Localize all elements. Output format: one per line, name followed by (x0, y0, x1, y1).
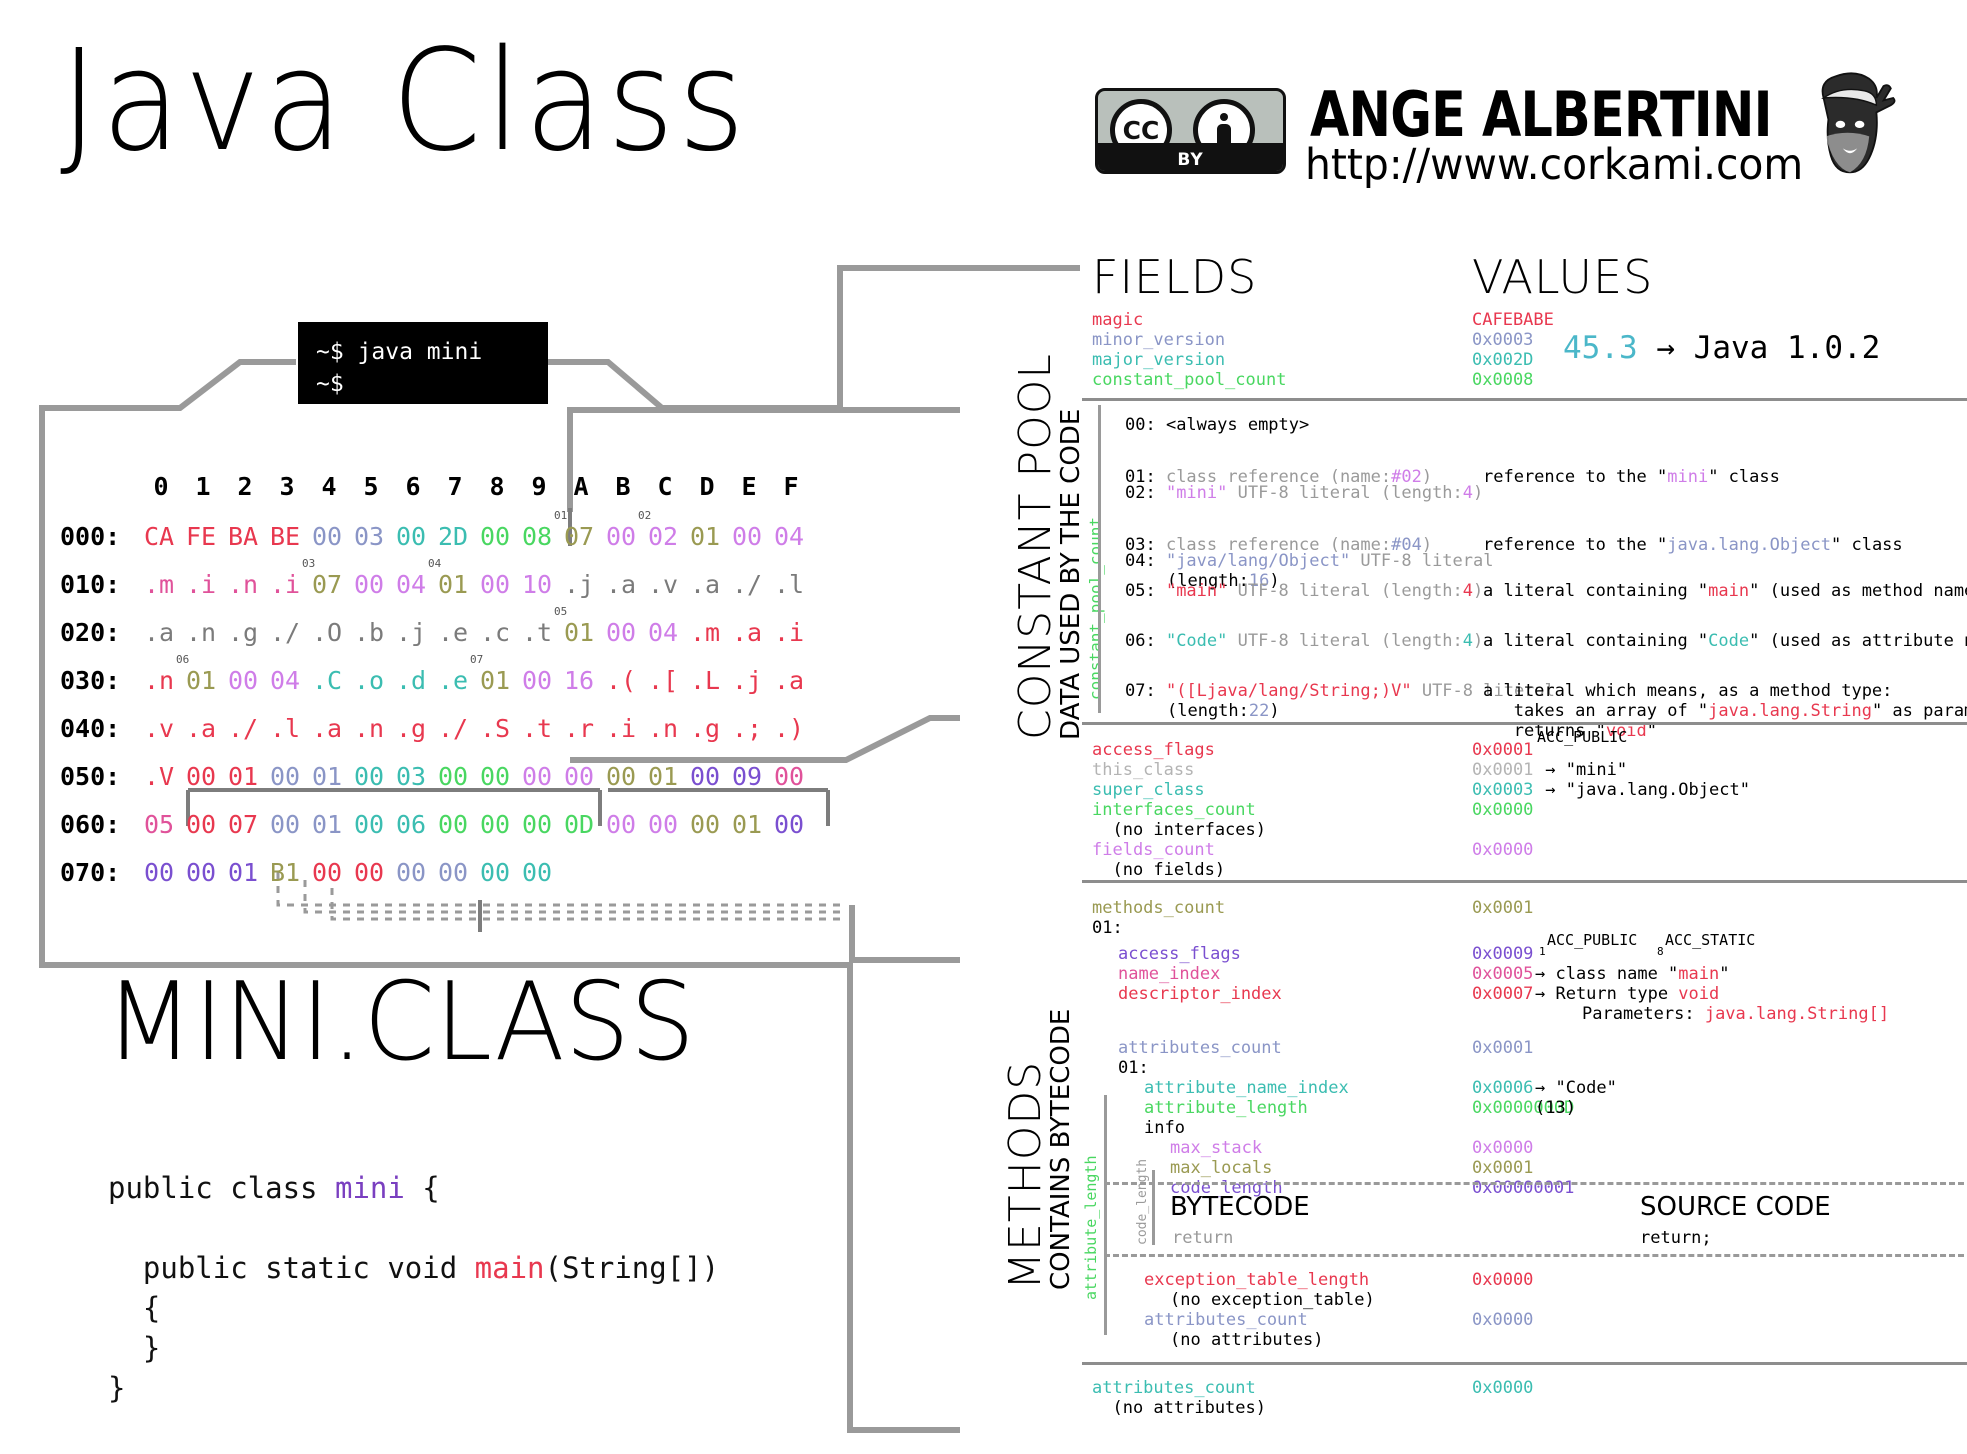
hex-byte: .a (768, 666, 810, 695)
method-annotation: → class name "main" (1535, 964, 1730, 984)
constant-pool-entry: 00: <always empty> (1125, 415, 1309, 435)
hex-byte-index: 01 (554, 509, 567, 522)
hex-byte: 00 (684, 810, 726, 839)
hex-byte: 00 (600, 522, 642, 551)
hex-byte: 00 (726, 522, 768, 551)
hex-byte: .C (306, 666, 348, 695)
hex-byte: .i (768, 618, 810, 647)
source-line: public class mini { (108, 1168, 719, 1208)
field-name: descriptor_index (1118, 984, 1282, 1004)
cp-note-highlight: mini (1667, 467, 1708, 487)
hex-byte: 00 (390, 858, 432, 887)
hex-row: 070:000001B1000000000000 (60, 858, 558, 887)
cp-note-pre: reference to the " (1483, 467, 1667, 487)
field-value: 0x0000 (1472, 1310, 1533, 1330)
annot-pre: → Return type (1535, 984, 1678, 1004)
field-value: CAFEBABE (1472, 310, 1554, 330)
bytecode-top-divider (1104, 1182, 1964, 1185)
field-name: exception_table_length (1144, 1270, 1369, 1290)
cp-note-post: " (used as method name) (1749, 581, 1967, 601)
hex-byte: 0D (558, 810, 600, 839)
hex-byte: .O (306, 618, 348, 647)
hex-byte: B1 (264, 858, 306, 887)
field-flag-name: ACC_PUBLIC (1537, 728, 1627, 746)
cp-literal: "([Ljava/lang/String;)V" (1166, 681, 1412, 701)
cp-rest: UTF-8 literal (length: (1227, 483, 1462, 503)
method-annotation: → Return type void (1535, 984, 1719, 1004)
field-value: 0x0006 (1472, 1078, 1533, 1098)
cp-len-pre: (length: (1167, 701, 1249, 721)
hex-byte: 00 (306, 858, 348, 887)
field-name: (no fields) (1092, 860, 1225, 880)
method-flag-1-bit: 1 (1539, 945, 1546, 958)
hex-byte: 07 (222, 810, 264, 839)
cp-index: 04: (1125, 551, 1166, 571)
hex-byte: 0701 (474, 666, 516, 695)
cp-index: 05: (1125, 581, 1166, 601)
hex-byte: .( (600, 666, 642, 695)
hex-byte-index: 03 (302, 557, 315, 570)
hex-byte: 0401 (432, 570, 474, 599)
hex-byte: BA (222, 522, 264, 551)
field-value: 0x0001 (1472, 898, 1533, 918)
method-row: max_stack0x0000 (1092, 1138, 1967, 1158)
cp-rest-end: ) (1473, 631, 1483, 651)
method-row: descriptor_index0x0007→ Return type void (1092, 984, 1967, 1004)
hex-byte: 00 (348, 762, 390, 791)
annot-pre: → class name " (1535, 964, 1678, 984)
hex-byte: 00 (432, 858, 474, 887)
hex-byte: 00 (768, 810, 810, 839)
hex-byte: 00 (474, 522, 516, 551)
cp-literal: "Code" (1166, 631, 1227, 651)
hex-byte: 04 (390, 570, 432, 599)
mini-class-heading: MINI.CLASS (105, 960, 695, 1085)
method-extra: Parameters: java.lang.String[] (1582, 1004, 1889, 1024)
constant-pool-subheading: DATA USED BY THE CODE (1056, 409, 1086, 740)
hex-col-8: 8 (476, 472, 518, 501)
hex-byte: 08 (516, 522, 558, 551)
hex-byte: .m (684, 618, 726, 647)
hex-offset: 010: (60, 570, 138, 599)
method-row: methods_count0x0001 (1092, 898, 1967, 918)
extra-pre: Parameters: (1582, 1004, 1705, 1024)
field-name: attribute_name_index (1144, 1078, 1349, 1098)
hex-col-6: 6 (392, 472, 434, 501)
cp-note-highlight: java.lang.String (1708, 701, 1872, 721)
values-heading: VALUES (1472, 250, 1653, 304)
cp-length-line: (length:22) (1167, 701, 1280, 721)
hex-byte: 03 (390, 762, 432, 791)
method-row: max_locals0x0001 (1092, 1158, 1967, 1178)
hex-byte: 04 (264, 666, 306, 695)
field-value: 0x0000 (1472, 1270, 1533, 1290)
hex-byte: .j (558, 570, 600, 599)
source-line: } (108, 1368, 719, 1408)
hex-col-3: 3 (266, 472, 308, 501)
hex-byte: 00 (600, 618, 642, 647)
field-value: 0x0000 (1472, 1378, 1533, 1398)
hex-col-9: 9 (518, 472, 560, 501)
cp-note-post: " as parameter (1872, 701, 1967, 721)
cp-rest-end: ) (1473, 483, 1483, 503)
method-row: 01: (1092, 1058, 1967, 1078)
method-annotation: (13) (1535, 1098, 1576, 1118)
cp-note-line: a literal which means, as a method type: (1483, 681, 1892, 701)
cp-rest: UTF-8 literal (length: (1227, 581, 1462, 601)
field-name: name_index (1118, 964, 1220, 984)
hex-offset: 020: (60, 618, 138, 647)
fields-heading: FIELDS (1092, 250, 1257, 304)
hex-byte: .g (390, 714, 432, 743)
field-name: (no attributes) (1170, 1330, 1324, 1350)
field-value: 0x0008 (1472, 370, 1533, 390)
source-line: { (108, 1288, 719, 1328)
divider-1 (1082, 398, 1967, 401)
cp-description: <always empty> (1166, 415, 1309, 435)
hex-byte-index: 06 (176, 653, 189, 666)
cp-length: 4 (1463, 483, 1473, 503)
field-value: 0x00000001 (1472, 1178, 1574, 1198)
method-row: access_flags0x0009ACC_PUBLIC1ACC_STATIC8 (1092, 944, 1967, 964)
cp-index: 07: (1125, 681, 1166, 701)
java-source-code: public class mini { public static void m… (108, 1168, 719, 1408)
source-code-line: return; (1640, 1228, 1712, 1248)
hex-byte: 00 (600, 762, 642, 791)
hex-byte: .i (600, 714, 642, 743)
field-name: super_class (1092, 780, 1205, 800)
hex-byte: .a (180, 714, 222, 743)
hex-byte-index: 05 (554, 605, 567, 618)
hex-byte: .a (726, 618, 768, 647)
cp-length: 4 (1463, 631, 1473, 651)
cp-note-pre: reference to the " (1483, 535, 1667, 555)
terminal-line-1: ~$ java mini (316, 336, 530, 368)
hex-byte: 01 (306, 810, 348, 839)
hex-col-0: 0 (140, 472, 182, 501)
hex-byte: 00 (348, 810, 390, 839)
hex-byte: ./ (726, 570, 768, 599)
method-annotation: → "Code" (1535, 1078, 1617, 1098)
field-name: 01: (1118, 1058, 1149, 1078)
hex-byte: .a (684, 570, 726, 599)
constant-pool-entry: 05: "main" UTF-8 literal (length:4) (1125, 581, 1483, 601)
divider-4 (1082, 1362, 1967, 1365)
hex-byte: 01 (306, 762, 348, 791)
hex-offset: 060: (60, 810, 138, 839)
hex-byte: .i (180, 570, 222, 599)
divider-3 (1082, 880, 1967, 883)
hex-byte: 00 (768, 762, 810, 791)
cp-note-highlight: java.lang.Object (1667, 535, 1831, 555)
hex-byte: .v (138, 714, 180, 743)
hex-byte: ./ (264, 618, 306, 647)
hex-col-7: 7 (434, 472, 476, 501)
field-name: attribute_length (1144, 1098, 1308, 1118)
field-name: (no interfaces) (1092, 820, 1266, 840)
hex-row: 030:.n06010004.C.o.d.e07010016.(.[.L.j.a (60, 666, 810, 695)
hex-byte: 10 (516, 570, 558, 599)
source-line: public static void main(String[]) (108, 1248, 719, 1288)
hex-byte: 01 (222, 762, 264, 791)
hex-byte: 00 (474, 762, 516, 791)
hex-byte: .d (390, 666, 432, 695)
annot-highlight: main (1678, 964, 1719, 984)
method-row: info (1092, 1118, 1967, 1138)
hex-byte: 03 (348, 522, 390, 551)
hex-byte: CA (138, 522, 180, 551)
method-flag-2-bit: 8 (1657, 945, 1664, 958)
hex-byte: 01 (726, 810, 768, 839)
hex-byte: .b (348, 618, 390, 647)
cp-length: 4 (1463, 581, 1473, 601)
hex-byte: 00 (432, 762, 474, 791)
hex-row: 020:.a.n.g./.O.b.j.e.c.t05010004.m.a.i (60, 618, 810, 647)
hex-byte: 01 (222, 858, 264, 887)
annot-post: " (1719, 964, 1729, 984)
hex-byte: .r (558, 714, 600, 743)
version-arrow: → (1656, 330, 1675, 366)
constant-pool-entry: 06: "Code" UTF-8 literal (length:4) (1125, 631, 1483, 651)
bytecode-instruction: return (1172, 1228, 1233, 1248)
field-value: 0x0001 (1472, 740, 1533, 760)
constant-pool-entry: 04: "java/lang/Object" UTF-8 literal (1125, 551, 1493, 571)
method-row: attribute_length0x0000000D(13) (1092, 1098, 1967, 1118)
field-value: 0x0000 (1472, 840, 1533, 860)
hex-byte: 00 (474, 570, 516, 599)
source-code-heading: SOURCE CODE (1640, 1192, 1831, 1222)
constant-pool-entry: 02: "mini" UTF-8 literal (length:4) (1125, 483, 1483, 503)
hex-byte: 00 (222, 666, 264, 695)
hex-byte: .L (684, 666, 726, 695)
cp-index: 00: (1125, 415, 1166, 435)
cp-note: a literal containing "Code" (used as att… (1483, 631, 1967, 651)
hex-byte: .l (768, 570, 810, 599)
hex-col-E: E (728, 472, 770, 501)
hex-byte: 00 (516, 762, 558, 791)
cp-index: 02: (1125, 483, 1166, 503)
hex-row: 000:CAFEBABE0003002D00080107000202010004 (60, 522, 810, 551)
field-value: 0x0003 (1472, 780, 1533, 800)
hex-row: 060:050007000100060000000D0000000100 (60, 810, 810, 839)
hex-byte: .; (726, 714, 768, 743)
hex-byte: 00 (516, 810, 558, 839)
method-row: 01: (1092, 918, 1967, 938)
cp-note-pre: takes an array of " (1483, 701, 1708, 721)
cp-note-highlight: Code (1708, 631, 1749, 651)
field-name: info (1144, 1118, 1185, 1138)
hex-byte: .j (390, 618, 432, 647)
hex-byte: 01 (684, 522, 726, 551)
hex-byte: 00 (180, 858, 222, 887)
field-name: max_locals (1170, 1158, 1272, 1178)
hex-byte: .o (348, 666, 390, 695)
hex-byte: 06 (390, 810, 432, 839)
hex-byte-index: 04 (428, 557, 441, 570)
cp-rest: UTF-8 literal (length: (1227, 631, 1462, 651)
field-name: minor_version (1092, 330, 1225, 350)
hex-byte: 00 (306, 522, 348, 551)
cp-len-val: 22 (1249, 701, 1269, 721)
source-params: (String[]) (545, 1251, 720, 1285)
cp-literal: "mini" (1166, 483, 1227, 503)
hex-byte: .a (138, 618, 180, 647)
author-url[interactable]: http://www.corkami.com (1305, 140, 1803, 190)
version-note: 45.3 → Java 1.0.2 (1563, 330, 1880, 366)
field-value: 0x0001 (1472, 1158, 1533, 1178)
hex-byte: 0307 (306, 570, 348, 599)
hex-byte: 0107 (558, 522, 600, 551)
cp-rest: UTF-8 literal (1350, 551, 1493, 571)
hex-offset: 030: (60, 666, 138, 695)
field-name: (no attributes) (1092, 1398, 1266, 1418)
hex-col-A: A (560, 472, 602, 501)
hex-col-5: 5 (350, 472, 392, 501)
cp-note-post: " class (1831, 535, 1903, 555)
hex-col-F: F (770, 472, 812, 501)
hex-offset: 040: (60, 714, 138, 743)
hex-byte: 00 (180, 810, 222, 839)
hex-byte: 00 (516, 858, 558, 887)
hex-byte: .v (642, 570, 684, 599)
hex-byte: .e (432, 618, 474, 647)
field-name: magic (1092, 310, 1143, 330)
hex-byte: .t (516, 618, 558, 647)
cp-note: reference to the "java.lang.Object" clas… (1483, 535, 1903, 555)
hex-byte: 00 (516, 666, 558, 695)
extra-highlight: java.lang.String[] (1705, 1004, 1889, 1024)
field-name: constant_pool_count (1092, 370, 1286, 390)
source-keyword: public static void (108, 1251, 475, 1285)
version-number: 45.3 (1563, 330, 1638, 366)
cp-note: a literal which means, as a method type: (1483, 681, 1892, 701)
field-value: 0x0000 (1472, 1138, 1533, 1158)
terminal-window: ~$ java mini ~$ (298, 322, 548, 404)
hex-byte: 00 (138, 858, 180, 887)
hex-byte: 0601 (180, 666, 222, 695)
hex-byte: .c (474, 618, 516, 647)
field-annotation: → "java.lang.Object" (1535, 780, 1750, 800)
field-name: methods_count (1092, 898, 1225, 918)
source-line: } (108, 1328, 719, 1368)
hex-col-4: 4 (308, 472, 350, 501)
bytecode-heading: BYTECODE (1170, 1192, 1310, 1222)
field-name: access_flags (1092, 740, 1215, 760)
cp-note-post: " class (1708, 467, 1780, 487)
corkami-mask-logo (1790, 62, 1910, 182)
hex-offset: 050: (60, 762, 138, 791)
method-flag-2: ACC_STATIC (1665, 931, 1755, 949)
field-name: 01: (1092, 918, 1123, 938)
hex-byte: 09 (726, 762, 768, 791)
hex-byte: .t (516, 714, 558, 743)
cp-note: takes an array of "java.lang.String" as … (1483, 701, 1967, 721)
cp-note-pre: a literal containing " (1483, 631, 1708, 651)
constant-pool-count-label: constant_pool_count (1086, 517, 1105, 700)
hex-byte: .i (264, 570, 306, 599)
field-value: 0x0009 (1472, 944, 1533, 964)
hex-row: 040:.v.a./.l.a.n.g./.S.t.r.i.n.g.;.) (60, 714, 810, 743)
constant-pool-bracket (1098, 405, 1101, 713)
hex-byte: FE (180, 522, 222, 551)
hex-byte: 00 (180, 762, 222, 791)
hex-byte: .[ (642, 666, 684, 695)
hex-byte: 00 (474, 858, 516, 887)
field-name: (no exception_table) (1170, 1290, 1375, 1310)
hex-byte: 05 (138, 810, 180, 839)
field-value: 0x002D (1472, 350, 1533, 370)
method-row: attribute_name_index0x0006→ "Code" (1092, 1078, 1967, 1098)
hex-byte: 00 (558, 762, 600, 791)
divider-2 (1082, 722, 1967, 725)
source-brace: { (405, 1171, 440, 1205)
hex-byte: .n (348, 714, 390, 743)
cp-index: 06: (1125, 631, 1166, 651)
hex-row: 010:.m.i.n.i0307000404010010.j.a.v.a./.l (60, 570, 810, 599)
hex-byte: 00 (684, 762, 726, 791)
hex-byte: 00 (600, 810, 642, 839)
cc-license-badge: CC BY (1095, 88, 1286, 174)
hex-byte: 00 (264, 810, 306, 839)
cp-len-post: ) (1269, 701, 1279, 721)
hex-byte: .g (222, 618, 264, 647)
field-name: attributes_count (1092, 1378, 1256, 1398)
hex-byte: .n (222, 570, 264, 599)
field-name: attributes_count (1118, 1038, 1282, 1058)
hex-byte: 00 (348, 858, 390, 887)
hex-byte: 00 (348, 570, 390, 599)
methods-heading: METHODS (1000, 1061, 1051, 1290)
hex-byte: ./ (222, 714, 264, 743)
hex-byte: 00 (642, 810, 684, 839)
field-value: 0x0003 (1472, 330, 1533, 350)
field-name: access_flags (1118, 944, 1241, 964)
hex-col-C: C (644, 472, 686, 501)
field-name: this_class (1092, 760, 1194, 780)
field-value: 0x0005 (1472, 964, 1533, 984)
cp-literal: "java/lang/Object" (1166, 551, 1350, 571)
hex-byte: BE (264, 522, 306, 551)
source-blank (108, 1208, 719, 1248)
hex-byte: .V (138, 762, 180, 791)
annot-highlight: void (1678, 984, 1719, 1004)
hex-byte: .a (306, 714, 348, 743)
cp-rest-end: ) (1473, 581, 1483, 601)
hex-byte: .e (432, 666, 474, 695)
methods-subheading: CONTAINS BYTECODE (1046, 1009, 1076, 1290)
hex-byte: .n (642, 714, 684, 743)
hex-offset: 070: (60, 858, 138, 887)
field-value: 0x0000 (1472, 800, 1533, 820)
hex-byte: .a (600, 570, 642, 599)
page-title: Java Class (60, 20, 749, 183)
annot-pre: (13) (1535, 1098, 1576, 1118)
hex-byte: 0501 (558, 618, 600, 647)
hex-byte: 04 (768, 522, 810, 551)
hex-byte: .j (726, 666, 768, 695)
hex-column-header: 0123456789ABCDEF (140, 472, 812, 501)
hex-byte: ./ (432, 714, 474, 743)
constant-pool-heading: CONSTANT POOL (1010, 353, 1061, 740)
hex-byte: .n (180, 618, 222, 647)
field-annotation: → "mini" (1535, 760, 1627, 780)
field-value: 0x0001 (1472, 760, 1533, 780)
hex-col-D: D (686, 472, 728, 501)
method-row: name_index0x0005→ class name "main" (1092, 964, 1967, 984)
hex-col-1: 1 (182, 472, 224, 501)
terminal-line-2: ~$ (316, 368, 530, 400)
cp-note: reference to the "mini" class (1483, 467, 1780, 487)
